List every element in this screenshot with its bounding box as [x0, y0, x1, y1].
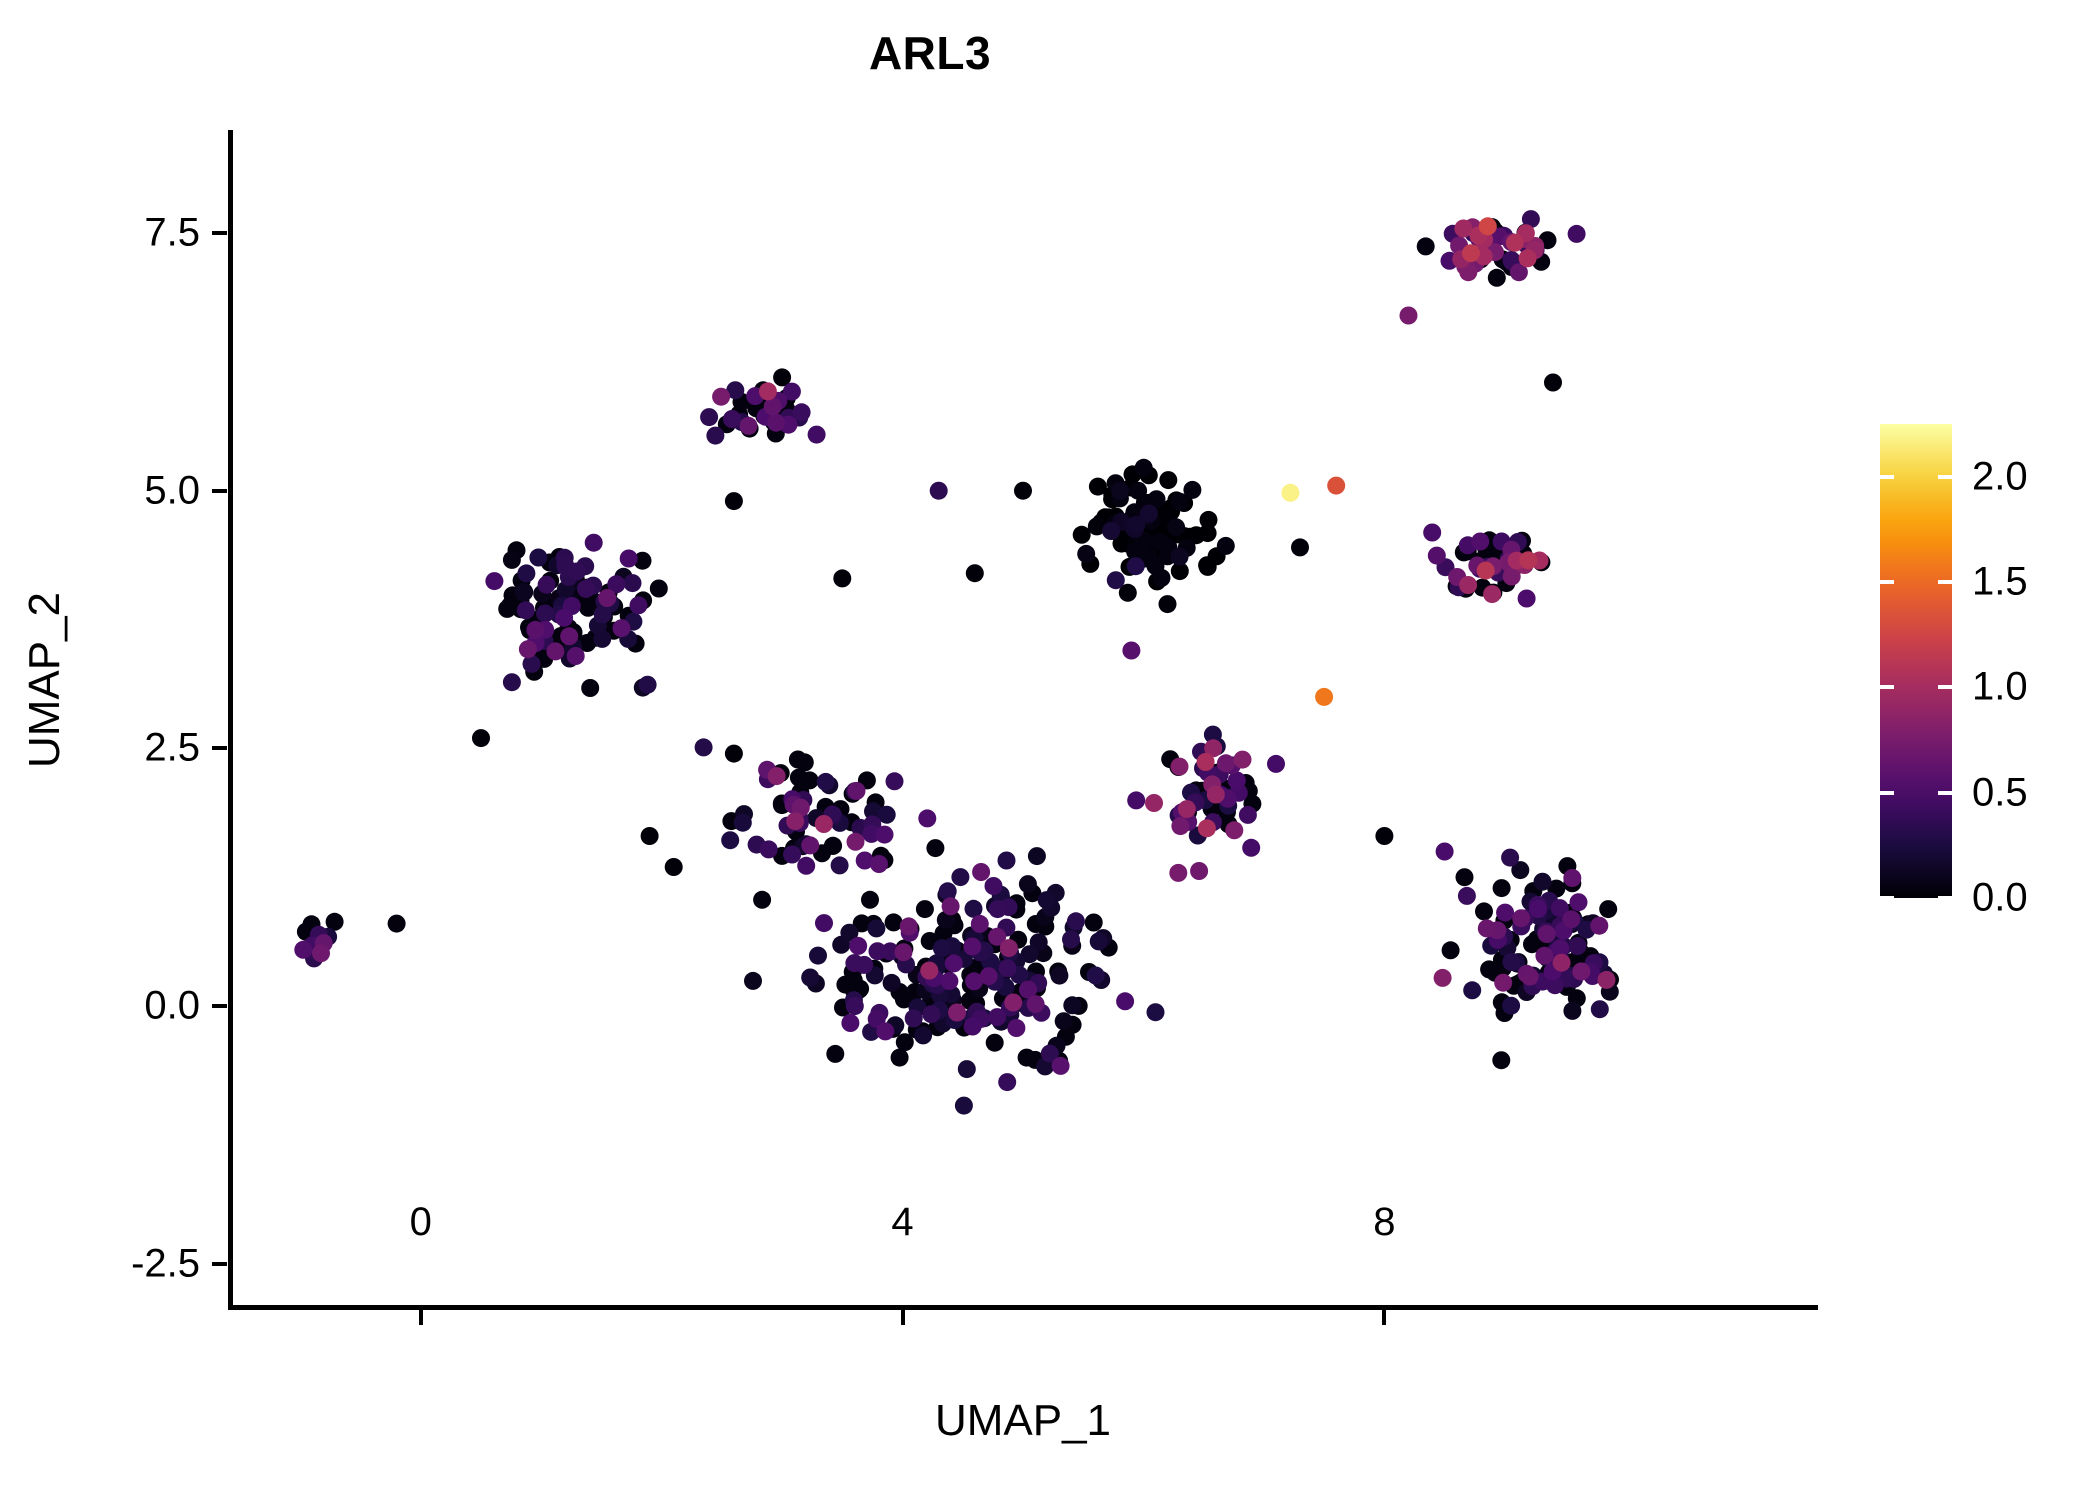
- scatter-point: [515, 583, 533, 601]
- x-tick-label-4: 4: [891, 1200, 913, 1245]
- scatter-point: [1521, 968, 1539, 986]
- scatter-point: [312, 944, 330, 962]
- scatter-point: [1519, 249, 1537, 267]
- scatter-point: [801, 836, 819, 854]
- scatter-point: [1315, 688, 1333, 706]
- scatter-point: [560, 627, 578, 645]
- scatter-point: [951, 868, 969, 886]
- scatter-point: [1553, 954, 1571, 972]
- scatter-point: [1019, 875, 1037, 893]
- scatter-point: [1478, 919, 1496, 937]
- scatter-point: [624, 574, 642, 592]
- scatter-point: [1159, 471, 1177, 489]
- scatter-point: [568, 563, 586, 581]
- scatter-point: [1538, 925, 1556, 943]
- scatter-point: [1456, 868, 1474, 886]
- scatter-point: [538, 576, 556, 594]
- scatter-point: [1090, 932, 1108, 950]
- scatter-point: [841, 1014, 859, 1032]
- scatter-point: [1102, 522, 1120, 540]
- scatter-point: [905, 1009, 923, 1027]
- scatter-point: [942, 897, 960, 915]
- scatter-point: [526, 621, 544, 639]
- scatter-point: [883, 974, 901, 992]
- colorbar-tick-0.5: [1880, 791, 1952, 795]
- y-tick--2.5: [212, 1262, 227, 1266]
- scatter-point: [613, 619, 631, 637]
- scatter-point: [1167, 518, 1185, 536]
- scatter-point: [555, 609, 573, 627]
- scatter-point: [517, 601, 535, 619]
- scatter-point: [972, 863, 990, 881]
- scatter-point: [876, 1022, 894, 1040]
- scatter-point: [945, 954, 963, 972]
- scatter-point: [744, 972, 762, 990]
- scatter-point: [1502, 953, 1520, 971]
- scatter-point: [294, 941, 312, 959]
- scatter-point: [1207, 786, 1225, 804]
- scatter-point: [998, 1073, 1016, 1091]
- scatter-point: [930, 482, 948, 500]
- scatter-point: [740, 417, 758, 435]
- scatter-point: [1512, 909, 1530, 927]
- scatter-point: [721, 831, 739, 849]
- scatter-point: [1502, 997, 1520, 1015]
- scatter-point: [847, 833, 865, 851]
- scatter-point: [1483, 585, 1501, 603]
- scatter-point: [1122, 642, 1140, 660]
- scatter-point: [1127, 557, 1145, 575]
- y-tick-2.5: [212, 746, 227, 750]
- page-title: ARL3: [0, 26, 1860, 80]
- scatter-point: [831, 856, 849, 874]
- y-tick-label-0.0: 0.0: [144, 984, 200, 1029]
- scatter-point: [1436, 843, 1454, 861]
- scatter-point: [1477, 562, 1495, 580]
- scatter-point: [1028, 847, 1046, 865]
- scatter-point: [1014, 482, 1032, 500]
- scatter-point: [1198, 819, 1216, 837]
- scatter-point: [517, 564, 535, 582]
- colorbar-label-2.0: 2.0: [1972, 454, 2028, 499]
- scatter-point: [939, 882, 957, 900]
- scatter-point: [1077, 545, 1095, 563]
- scatter-point: [1519, 551, 1537, 569]
- scatter-point: [1463, 981, 1481, 999]
- scatter-point: [793, 403, 811, 421]
- scatter-point: [783, 846, 801, 864]
- scatter-point: [916, 900, 934, 918]
- scatter-point: [966, 564, 984, 582]
- scatter-point: [1171, 493, 1189, 511]
- x-tick-8: [1382, 1310, 1386, 1325]
- scatter-point: [768, 767, 786, 785]
- scatter-point: [639, 676, 657, 694]
- scatter-point: [833, 569, 851, 587]
- scatter-point: [1159, 595, 1177, 613]
- x-tick-label-0: 0: [410, 1200, 432, 1245]
- scatter-point: [1563, 869, 1581, 887]
- scatter-point: [1375, 827, 1393, 845]
- scatter-point: [1038, 891, 1056, 909]
- scatter-point: [1423, 524, 1441, 542]
- scatter-point: [767, 414, 785, 432]
- scatter-points-layer: [228, 130, 1818, 1305]
- scatter-point: [1242, 839, 1260, 857]
- scatter-point: [695, 738, 713, 756]
- scatter-point: [546, 642, 564, 660]
- scatter-point: [1190, 862, 1208, 880]
- scatter-point: [895, 943, 913, 961]
- scatter-point: [388, 915, 406, 933]
- scatter-point: [1073, 526, 1091, 544]
- y-tick-7.5: [212, 231, 227, 235]
- scatter-point: [855, 956, 873, 974]
- scatter-point: [815, 914, 833, 932]
- scatter-point: [1063, 996, 1081, 1014]
- scatter-point: [900, 917, 918, 935]
- y-tick-0.0: [212, 1004, 227, 1008]
- scatter-point: [620, 550, 638, 568]
- scatter-point: [926, 839, 944, 857]
- scatter-point: [1529, 900, 1547, 918]
- scatter-point: [1239, 806, 1257, 824]
- scatter-point: [1458, 887, 1476, 905]
- scatter-point: [1007, 1019, 1025, 1037]
- scatter-point: [1459, 576, 1477, 594]
- scatter-point: [1107, 571, 1125, 589]
- scatter-point: [725, 745, 743, 763]
- scatter-point: [1178, 800, 1196, 818]
- scatter-point: [1599, 900, 1617, 918]
- scatter-point: [1085, 914, 1103, 932]
- scatter-point: [1140, 505, 1158, 523]
- scatter-point: [700, 408, 718, 426]
- scatter-point: [849, 937, 867, 955]
- scatter-point: [1267, 755, 1285, 773]
- scatter-point: [1217, 537, 1235, 555]
- x-tick-0: [419, 1310, 423, 1325]
- y-axis-title: UMAP_2: [20, 370, 70, 990]
- scatter-point: [801, 969, 819, 987]
- scatter-point: [988, 1008, 1006, 1026]
- scatter-point: [581, 679, 599, 697]
- scatter-point: [1000, 939, 1018, 957]
- scatter-point: [1506, 234, 1524, 252]
- scatter-point: [760, 840, 778, 858]
- scatter-point: [1225, 821, 1243, 839]
- scatter-point: [846, 997, 864, 1015]
- scatter-point: [885, 913, 903, 931]
- scatter-point: [503, 673, 521, 691]
- scatter-point: [986, 1034, 1004, 1052]
- scatter-point: [1434, 969, 1452, 987]
- scatter-point: [1217, 754, 1235, 772]
- y-axis-line: [228, 130, 233, 1305]
- scatter-point: [886, 772, 904, 790]
- scatter-point: [759, 382, 777, 400]
- scatter-point: [1169, 864, 1187, 882]
- scatter-point: [706, 427, 724, 445]
- scatter-point: [1027, 995, 1045, 1013]
- scatter-point: [1281, 484, 1299, 502]
- scatter-point: [1563, 1002, 1581, 1020]
- scatter-point: [848, 782, 866, 800]
- scatter-point: [817, 773, 835, 791]
- scatter-point: [1116, 992, 1134, 1010]
- scatter-point: [1598, 971, 1616, 989]
- scatter-point: [577, 580, 595, 598]
- y-tick-label-2.5: 2.5: [144, 726, 200, 771]
- scatter-point: [797, 857, 815, 875]
- scatter-point: [594, 605, 612, 623]
- scatter-point: [1479, 217, 1497, 235]
- scatter-point: [1147, 1003, 1165, 1021]
- scatter-point: [1591, 1000, 1609, 1018]
- scatter-point: [955, 1097, 973, 1115]
- scatter-point: [876, 826, 894, 844]
- scatter-point: [665, 858, 683, 876]
- scatter-point: [985, 877, 1003, 895]
- scatter-point: [1492, 1051, 1510, 1069]
- scatter-point: [1572, 963, 1590, 981]
- scatter-point: [1052, 1057, 1070, 1075]
- colorbar-label-0.0: 0.0: [1972, 876, 2028, 921]
- scatter-point: [1067, 912, 1085, 930]
- scatter-point: [1569, 937, 1587, 955]
- y-tick-label-5.0: 5.0: [144, 468, 200, 513]
- scatter-point: [1493, 879, 1511, 897]
- scatter-point: [503, 551, 521, 569]
- scatter-point: [1129, 482, 1147, 500]
- x-axis-line: [228, 1305, 1818, 1310]
- scatter-point: [1055, 1012, 1073, 1030]
- scatter-point: [964, 1018, 982, 1036]
- scatter-point: [1590, 917, 1608, 935]
- scatter-point: [914, 1026, 932, 1044]
- scatter-point: [989, 900, 1007, 918]
- scatter-point: [725, 492, 743, 510]
- scatter-point: [1462, 244, 1480, 262]
- scatter-point: [1171, 548, 1189, 566]
- scatter-point: [922, 1005, 940, 1023]
- scatter-point: [753, 891, 771, 909]
- scatter-point: [808, 426, 826, 444]
- scatter-point: [1417, 237, 1435, 255]
- scatter-point: [920, 962, 938, 980]
- scatter-point: [1145, 794, 1163, 812]
- scatter-point: [1518, 590, 1536, 608]
- scatter-point: [869, 942, 887, 960]
- scatter-point: [891, 1049, 909, 1067]
- scatter-point: [1568, 225, 1586, 243]
- scatter-point: [1494, 974, 1512, 992]
- scatter-point: [1570, 893, 1588, 911]
- scatter-point: [1488, 269, 1506, 287]
- scatter-point: [598, 589, 616, 607]
- scatter-point: [918, 809, 936, 827]
- colorbar-label-1.5: 1.5: [1972, 560, 2028, 605]
- x-tick-4: [901, 1310, 905, 1325]
- scatter-point: [1501, 849, 1519, 867]
- y-tick-label--2.5: -2.5: [131, 1241, 200, 1286]
- scatter-point: [1496, 904, 1514, 922]
- x-tick-label-8: 8: [1373, 1200, 1395, 1245]
- scatter-point: [1135, 459, 1153, 477]
- scatter-point: [940, 972, 958, 990]
- scatter-point: [630, 596, 648, 614]
- scatter-point: [815, 815, 833, 833]
- scatter-point: [1475, 902, 1493, 920]
- scatter-point: [1153, 569, 1171, 587]
- scatter-point: [1442, 941, 1460, 959]
- scatter-point: [933, 939, 951, 957]
- scatter-point: [786, 812, 804, 830]
- y-tick-5.0: [212, 489, 227, 493]
- scatter-point: [1428, 547, 1446, 565]
- scatter-point: [980, 967, 998, 985]
- scatter-point: [712, 388, 730, 406]
- scatter-point: [650, 580, 668, 598]
- scatter-point: [958, 1060, 976, 1078]
- colorbar-tick-0.0: [1880, 896, 1952, 900]
- scatter-point: [789, 751, 807, 769]
- colorbar-legend: 0.00.51.01.52.0: [1880, 424, 2080, 904]
- scatter-point: [1171, 758, 1189, 776]
- x-axis-title: UMAP_1: [228, 1396, 1818, 1446]
- colorbar-tick-1.0: [1880, 685, 1952, 689]
- scatter-point: [1471, 533, 1489, 551]
- scatter-point: [867, 919, 885, 937]
- scatter-point: [585, 534, 603, 552]
- scatter-point: [1127, 791, 1145, 809]
- scatter-point: [519, 640, 537, 658]
- scatter-point: [1535, 947, 1553, 965]
- umap-feature-plot: ARL3 -2.50.02.55.07.5 048 UMAP_1 UMAP_2 …: [0, 0, 2100, 1500]
- scatter-point: [870, 855, 888, 873]
- plot-panel: [228, 130, 1818, 1305]
- scatter-point: [1291, 538, 1309, 556]
- scatter-point: [999, 959, 1017, 977]
- scatter-point: [1327, 477, 1345, 495]
- colorbar-label-0.5: 0.5: [1972, 770, 2028, 815]
- scatter-point: [723, 410, 741, 428]
- scatter-point: [1087, 967, 1105, 985]
- scatter-point: [1171, 817, 1189, 835]
- scatter-point: [536, 605, 554, 623]
- scatter-point: [1004, 994, 1022, 1012]
- colorbar-tick-1.5: [1880, 580, 1952, 584]
- scatter-point: [861, 891, 879, 909]
- scatter-point: [567, 647, 585, 665]
- scatter-point: [971, 915, 989, 933]
- scatter-point: [1062, 930, 1080, 948]
- scatter-point: [963, 938, 981, 956]
- scatter-point: [472, 729, 490, 747]
- scatter-point: [734, 814, 752, 832]
- scatter-point: [1234, 751, 1252, 769]
- scatter-point: [824, 837, 842, 855]
- scatter-point: [998, 852, 1016, 870]
- scatter-point: [1111, 482, 1129, 500]
- colorbar-tick-2.0: [1880, 475, 1952, 479]
- scatter-point: [529, 549, 547, 567]
- scatter-point: [1534, 873, 1552, 891]
- y-tick-label-7.5: 7.5: [144, 211, 200, 256]
- scatter-point: [1562, 910, 1580, 928]
- scatter-point: [1197, 753, 1215, 771]
- scatter-point: [1400, 307, 1418, 325]
- scatter-point: [1050, 967, 1068, 985]
- colorbar-label-1.0: 1.0: [1972, 665, 2028, 710]
- scatter-point: [641, 827, 659, 845]
- scatter-point: [485, 572, 503, 590]
- scatter-point: [1089, 478, 1107, 496]
- scatter-point: [1544, 374, 1562, 392]
- colorbar-gradient: [1880, 424, 1952, 898]
- scatter-point: [826, 1045, 844, 1063]
- scatter-point: [948, 1004, 966, 1022]
- scatter-point: [809, 947, 827, 965]
